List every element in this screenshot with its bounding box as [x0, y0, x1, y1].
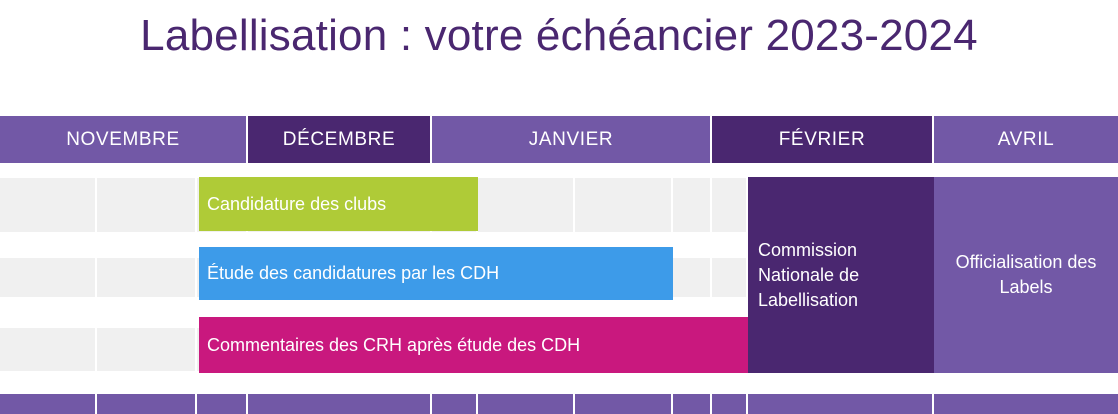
- task-bar[interactable]: Candidature des clubs: [199, 177, 478, 231]
- month-label: FÉVRIER: [779, 129, 866, 151]
- page-title: Labellisation : votre échéancier 2023-20…: [0, 8, 1118, 64]
- task-bar-label: Commentaires des CRH après étude des CDH: [207, 335, 580, 356]
- footer-cell: [478, 394, 575, 414]
- footer-cell: [197, 394, 248, 414]
- timeline-infographic: Labellisation : votre échéancier 2023-20…: [0, 0, 1118, 414]
- month-header-decembre: DÉCEMBRE: [248, 116, 432, 163]
- month-label: NOVEMBRE: [66, 129, 180, 151]
- month-label: JANVIER: [529, 129, 613, 151]
- task-bar[interactable]: Étude des candidatures par les CDH: [199, 247, 673, 300]
- grid-cell: [97, 178, 197, 232]
- footer-cell: [575, 394, 673, 414]
- month-header-avril: AVRIL: [934, 116, 1118, 163]
- month-label: DÉCEMBRE: [283, 129, 395, 151]
- grid-cell: [673, 258, 712, 297]
- footer-cell: [97, 394, 197, 414]
- milestone-label: Commission Nationale de Labellisation: [758, 238, 924, 313]
- grid-cell: [97, 258, 197, 297]
- footer-cell: [748, 394, 934, 414]
- footer-strip: [0, 394, 1118, 414]
- task-bar-label: Étude des candidatures par les CDH: [207, 263, 499, 284]
- timeline-grid-body: Candidature des clubsÉtude des candidatu…: [0, 163, 1118, 394]
- milestone-label: Officialisation des Labels: [944, 250, 1108, 300]
- month-header-janvier: JANVIER: [432, 116, 712, 163]
- task-bar[interactable]: Commentaires des CRH après étude des CDH: [199, 317, 748, 373]
- month-header-novembre: NOVEMBRE: [0, 116, 248, 163]
- footer-cell: [712, 394, 748, 414]
- grid-cell: [712, 178, 748, 232]
- grid-cell: [0, 328, 97, 371]
- footer-cell: [0, 394, 97, 414]
- grid-cell: [712, 258, 748, 297]
- grid-cell: [478, 178, 575, 232]
- milestone-block[interactable]: Commission Nationale de Labellisation: [748, 177, 934, 373]
- footer-cell: [934, 394, 1118, 414]
- footer-cell: [432, 394, 478, 414]
- task-bar-label: Candidature des clubs: [207, 194, 386, 215]
- month-header-fevrier: FÉVRIER: [712, 116, 934, 163]
- grid-cell: [0, 258, 97, 297]
- month-header-row: NOVEMBREDÉCEMBREJANVIERFÉVRIERAVRIL: [0, 116, 1118, 163]
- footer-cell: [673, 394, 712, 414]
- grid-cell: [575, 178, 673, 232]
- milestone-block[interactable]: Officialisation des Labels: [934, 177, 1118, 373]
- grid-cell: [0, 178, 97, 232]
- footer-cell: [248, 394, 432, 414]
- grid-cell: [673, 178, 712, 232]
- grid-cell: [97, 328, 197, 371]
- month-label: AVRIL: [998, 129, 1055, 151]
